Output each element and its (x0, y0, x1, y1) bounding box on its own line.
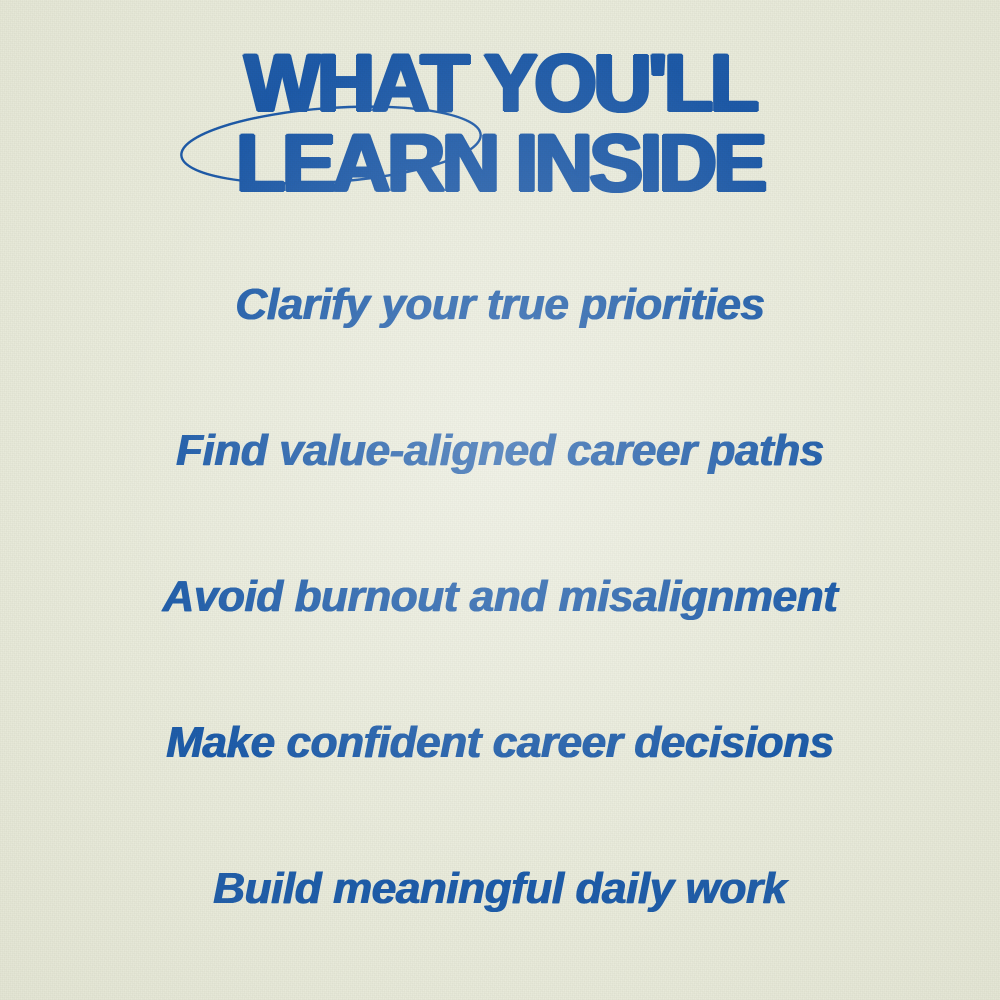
benefit-label: Find value-aligned career paths (176, 427, 824, 475)
list-item: Make confident career decisions (0, 670, 1000, 816)
benefit-label: Make confident career decisions (166, 719, 833, 767)
benefit-label: Build meaningful daily work (213, 865, 787, 913)
page-title-line-2: LEARN INSIDE (0, 124, 1000, 204)
slide-canvas: WHAT YOU'LL LEARN INSIDE Clarify your tr… (0, 0, 1000, 1000)
list-item: Find value-aligned career paths (0, 378, 1000, 524)
list-item: Build meaningful daily work (0, 816, 1000, 962)
benefit-label: Avoid burnout and misalignment (163, 573, 838, 621)
list-item: Clarify your true priorities (0, 232, 1000, 378)
benefit-list: Clarify your true priorities Find value-… (0, 232, 1000, 962)
page-title: WHAT YOU'LL LEARN INSIDE (0, 44, 1000, 199)
list-item: Avoid burnout and misalignment (0, 524, 1000, 670)
benefit-label: Clarify your true priorities (235, 281, 764, 329)
page-title-line-1: WHAT YOU'LL (0, 44, 1000, 124)
